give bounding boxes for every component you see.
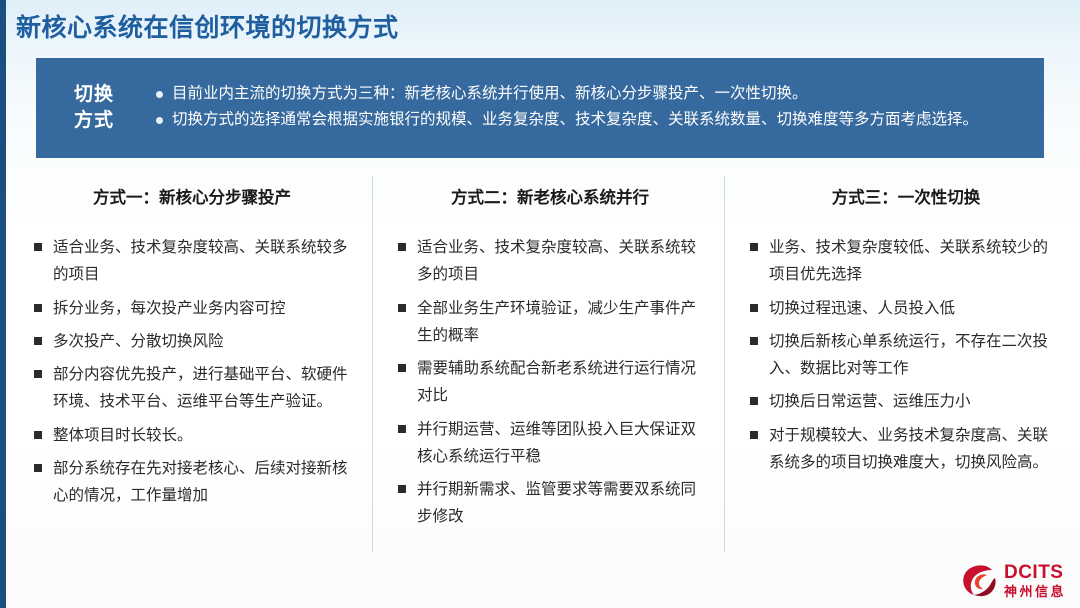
bullet-square-icon	[34, 370, 42, 378]
logo-wordmark: DCITS 神州信息	[1004, 563, 1066, 598]
list-item: 切换后新核心单系统运行，不存在二次投入、数据比对等工作	[750, 328, 1062, 383]
list-item-text: 切换过程迅速、人员投入低	[769, 295, 1062, 322]
column-heading: 方式二：新老核心系统并行	[398, 176, 702, 212]
list-item-text: 适合业务、技术复杂度较高、关联系统较多的项目	[53, 234, 350, 289]
bullet-square-icon	[34, 431, 42, 439]
banner-bullet-list: 目前业内主流的切换方式为三种：新老核心系统并行使用、新核心分步骤投产、一次性切换…	[138, 82, 1044, 133]
list-item-text: 并行期运营、运维等团队投入巨大保证双核心系统运行平稳	[417, 416, 702, 471]
banner-label: 切换 方式	[50, 82, 138, 133]
banner-bullet-item: 目前业内主流的切换方式为三种：新老核心系统并行使用、新核心分步骤投产、一次性切换…	[156, 82, 1020, 106]
bullet-square-icon	[34, 464, 42, 472]
bullet-square-icon	[34, 243, 42, 251]
list-item-text: 拆分业务，每次投产业务内容可控	[53, 295, 350, 322]
column-divider	[724, 176, 725, 552]
banner-bullet-text: 目前业内主流的切换方式为三种：新老核心系统并行使用、新核心分步骤投产、一次性切换…	[172, 82, 1020, 106]
list-item: 多次投产、分散切换风险	[34, 328, 350, 355]
list-item-text: 切换后日常运营、运维压力小	[769, 388, 1062, 415]
list-item-text: 需要辅助系统配合新老系统进行运行情况对比	[417, 355, 702, 410]
logo-name-cn: 神州信息	[1004, 585, 1066, 598]
banner-bullet-item: 切换方式的选择通常会根据实施银行的规模、业务复杂度、技术复杂度、关联系统数量、切…	[156, 108, 1020, 132]
banner-label-line2: 方式	[50, 108, 138, 134]
column-heading: 方式一：新核心分步骤投产	[34, 176, 350, 212]
comparison-columns: 方式一：新核心分步骤投产 适合业务、技术复杂度较高、关联系统较多的项目 拆分业务…	[0, 176, 1080, 562]
bullet-square-icon	[750, 397, 758, 405]
list-item: 部分系统存在先对接老核心、后续对接新核心的情况，工作量增加	[34, 455, 350, 510]
list-item-text: 对于规模较大、业务技术复杂度高、关联系统多的项目切换难度大，切换风险高。	[769, 422, 1062, 477]
column-method-two: 方式二：新老核心系统并行 适合业务、技术复杂度较高、关联系统较多的项目 全部业务…	[372, 176, 724, 562]
list-item: 部分内容优先投产，进行基础平台、软硬件环境、技术平台、运维平台等生产验证。	[34, 361, 350, 416]
list-item: 拆分业务，每次投产业务内容可控	[34, 295, 350, 322]
bullet-dot-icon	[156, 91, 163, 98]
list-item-text: 适合业务、技术复杂度较高、关联系统较多的项目	[417, 234, 702, 289]
list-item-text: 切换后新核心单系统运行，不存在二次投入、数据比对等工作	[769, 328, 1062, 383]
list-item: 切换后日常运营、运维压力小	[750, 388, 1062, 415]
list-item: 并行期运营、运维等团队投入巨大保证双核心系统运行平稳	[398, 416, 702, 471]
list-item: 需要辅助系统配合新老系统进行运行情况对比	[398, 355, 702, 410]
banner-bullet-text: 切换方式的选择通常会根据实施银行的规模、业务复杂度、技术复杂度、关联系统数量、切…	[172, 108, 1020, 132]
bullet-square-icon	[398, 485, 406, 493]
column-method-three: 方式三：一次性切换 业务、技术复杂度较低、关联系统较少的项目优先选择 切换过程迅…	[724, 176, 1080, 562]
list-item-text: 全部业务生产环境验证，减少生产事件产生的概率	[417, 295, 702, 350]
bullet-dot-icon	[156, 117, 163, 124]
list-item-text: 部分内容优先投产，进行基础平台、软硬件环境、技术平台、运维平台等生产验证。	[53, 361, 350, 416]
list-item: 整体项目时长较长。	[34, 422, 350, 449]
list-item: 全部业务生产环境验证，减少生产事件产生的概率	[398, 295, 702, 350]
list-item: 并行期新需求、监管要求等需要双系统同步修改	[398, 476, 702, 531]
bullet-square-icon	[398, 425, 406, 433]
list-item-text: 整体项目时长较长。	[53, 422, 350, 449]
page-title: 新核心系统在信创环境的切换方式	[16, 8, 399, 44]
logo-name-en: DCITS	[1004, 563, 1066, 582]
bullet-square-icon	[750, 431, 758, 439]
column-method-one: 方式一：新核心分步骤投产 适合业务、技术复杂度较高、关联系统较多的项目 拆分业务…	[0, 176, 372, 562]
list-item: 切换过程迅速、人员投入低	[750, 295, 1062, 322]
bullet-list: 业务、技术复杂度较低、关联系统较少的项目优先选择 切换过程迅速、人员投入低 切换…	[750, 212, 1062, 476]
bullet-square-icon	[750, 304, 758, 312]
bullet-square-icon	[398, 304, 406, 312]
bullet-square-icon	[34, 337, 42, 345]
company-logo: DCITS 神州信息	[962, 563, 1066, 598]
column-divider	[372, 176, 373, 552]
list-item: 适合业务、技术复杂度较高、关联系统较多的项目	[398, 234, 702, 289]
list-item-text: 部分系统存在先对接老核心、后续对接新核心的情况，工作量增加	[53, 455, 350, 510]
bullet-list: 适合业务、技术复杂度较高、关联系统较多的项目 全部业务生产环境验证，减少生产事件…	[398, 212, 702, 531]
list-item-text: 业务、技术复杂度较低、关联系统较少的项目优先选择	[769, 234, 1062, 289]
bullet-square-icon	[750, 337, 758, 345]
list-item: 适合业务、技术复杂度较高、关联系统较多的项目	[34, 234, 350, 289]
list-item: 对于规模较大、业务技术复杂度高、关联系统多的项目切换难度大，切换风险高。	[750, 422, 1062, 477]
bullet-square-icon	[398, 364, 406, 372]
dcits-swirl-icon	[962, 564, 998, 598]
list-item-text: 多次投产、分散切换风险	[53, 328, 350, 355]
column-heading: 方式三：一次性切换	[750, 176, 1062, 212]
summary-banner: 切换 方式 目前业内主流的切换方式为三种：新老核心系统并行使用、新核心分步骤投产…	[36, 58, 1044, 158]
bullet-list: 适合业务、技术复杂度较高、关联系统较多的项目 拆分业务，每次投产业务内容可控 多…	[34, 212, 350, 509]
list-item-text: 并行期新需求、监管要求等需要双系统同步修改	[417, 476, 702, 531]
bullet-square-icon	[398, 243, 406, 251]
bullet-square-icon	[750, 243, 758, 251]
bullet-square-icon	[34, 304, 42, 312]
list-item: 业务、技术复杂度较低、关联系统较少的项目优先选择	[750, 234, 1062, 289]
banner-label-line1: 切换	[50, 82, 138, 108]
